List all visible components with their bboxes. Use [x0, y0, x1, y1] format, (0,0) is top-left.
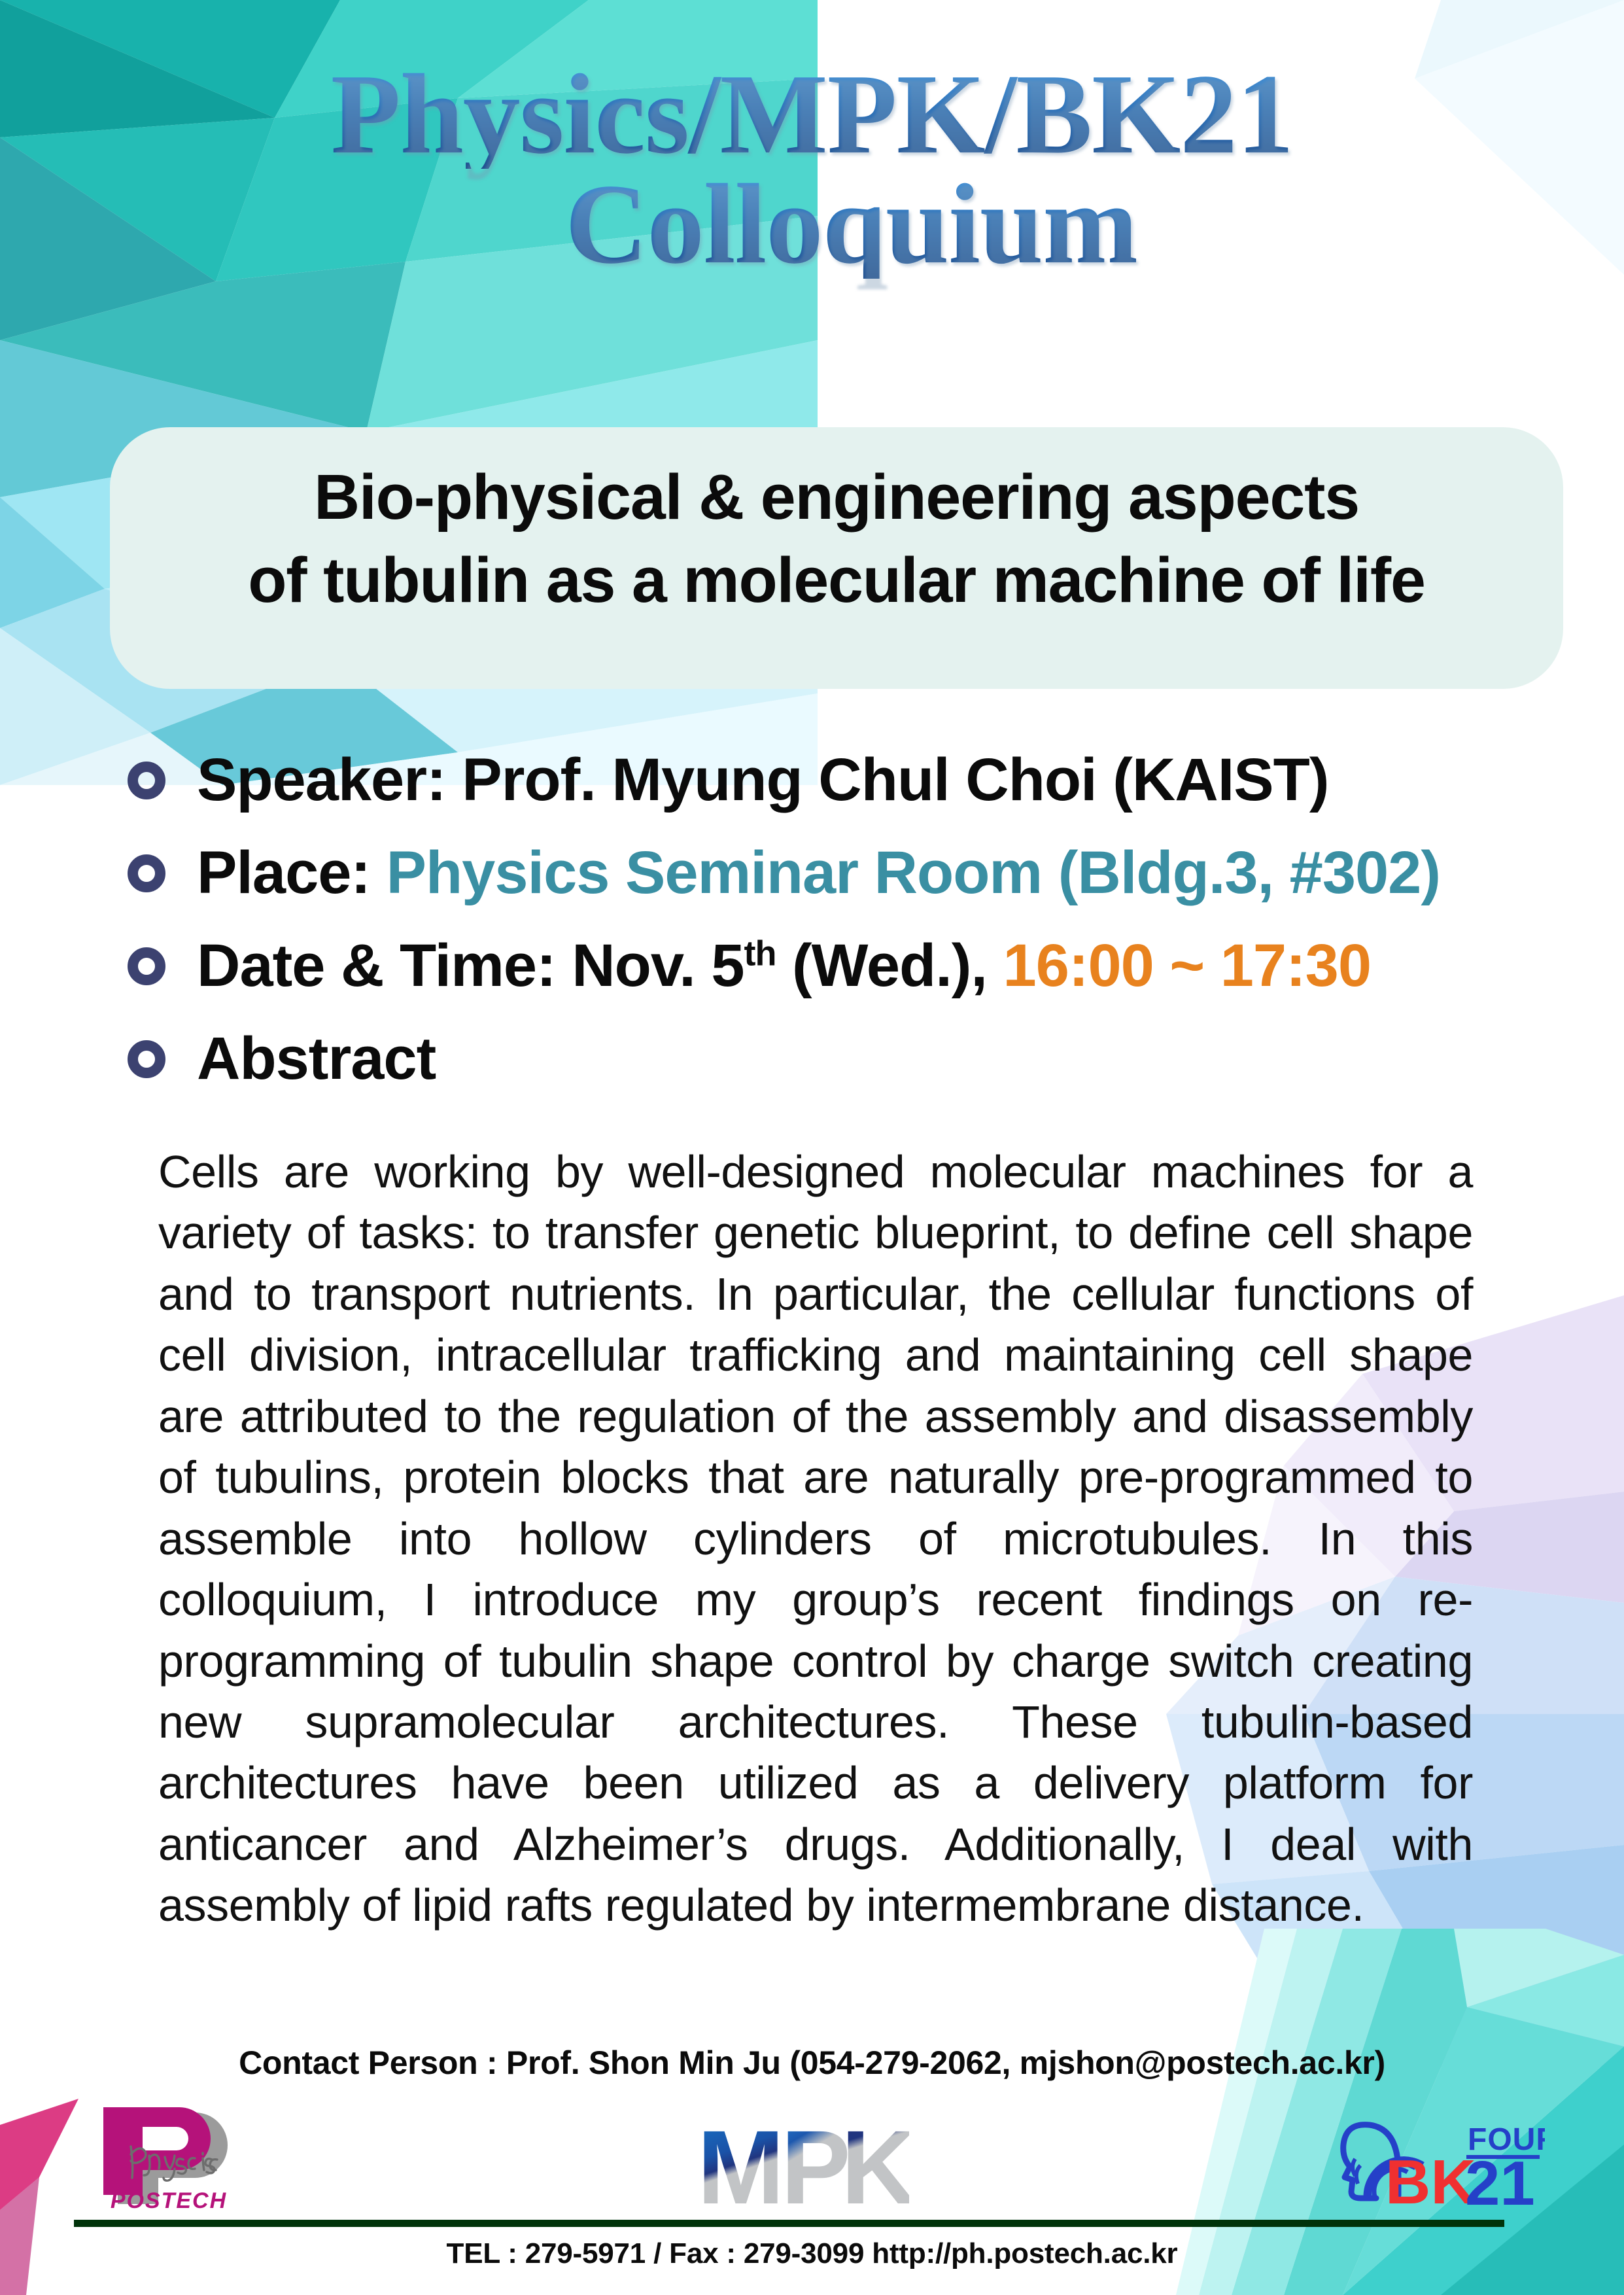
abstract-label: Abstract	[197, 1025, 436, 1094]
speaker-value: Prof. Myung Chul Choi (KAIST)	[462, 746, 1328, 813]
footer-divider	[74, 2220, 1504, 2227]
datetime-date-suffix: th	[744, 934, 776, 973]
place-value: Physics Seminar Room (Bldg.3, #302)	[387, 839, 1440, 906]
datetime-label: Date & Time:	[197, 932, 556, 999]
speaker-text: Speaker: Prof. Myung Chul Choi (KAIST)	[197, 746, 1329, 815]
talk-title-panel: Bio-physical & engineering aspects of tu…	[110, 427, 1563, 689]
svg-text:21: 21	[1465, 2148, 1535, 2210]
datetime-time-separator: ~	[1169, 932, 1204, 999]
detail-row-speaker: Speaker: Prof. Myung Chul Choi (KAIST)	[128, 746, 1566, 839]
abstract-body-text: Cells are working by well-designed molec…	[158, 1142, 1473, 1936]
talk-title-line-2: of tubulin as a molecular machine of lif…	[110, 548, 1563, 612]
talk-title-line-1: Bio-physical & engineering aspects	[110, 465, 1563, 529]
place-label: Place:	[197, 839, 370, 906]
datetime-time-end: 17:30	[1220, 932, 1371, 999]
poster-canvas: Physics/MPK/BK21 Colloquium Bio-physical…	[0, 0, 1624, 2295]
detail-row-abstract: Abstract	[128, 1025, 1566, 1117]
datetime-time-start: 16:00	[1003, 932, 1154, 999]
contact-person-line: Contact Person : Prof. Shon Min Ju (054-…	[0, 2044, 1624, 2082]
poster-header: Physics/MPK/BK21 Colloquium	[0, 59, 1624, 373]
mpk-logo: M P K	[693, 2112, 909, 2210]
header-line-1: Physics/MPK/BK21	[0, 59, 1624, 169]
svg-text:M: M	[697, 2112, 784, 2210]
event-details: Speaker: Prof. Myung Chul Choi (KAIST) P…	[128, 746, 1566, 1117]
footer-contact-text: TEL : 279-5971 / Fax : 279-3099 http://p…	[0, 2237, 1624, 2270]
bk21-four-logo: BK FOUR 21	[1329, 2099, 1545, 2210]
svg-text:K: K	[841, 2112, 909, 2210]
detail-row-datetime: Date & Time: Nov. 5th (Wed.), 16:00 ~ 17…	[128, 932, 1566, 1025]
ring-bullet-icon	[128, 1040, 165, 1078]
postech-physics-logo: POSTECH	[84, 2103, 254, 2215]
datetime-text: Date & Time: Nov. 5th (Wed.), 16:00 ~ 17…	[197, 932, 1371, 1001]
svg-text:BK: BK	[1385, 2147, 1476, 2210]
header-line-2: Colloquium	[78, 169, 1624, 279]
datetime-date: Nov. 5	[572, 932, 744, 999]
datetime-day: (Wed.),	[792, 932, 987, 999]
ring-bullet-icon	[128, 854, 165, 892]
svg-text:POSTECH: POSTECH	[111, 2188, 227, 2213]
svg-text:P: P	[781, 2112, 851, 2210]
detail-row-place: Place: Physics Seminar Room (Bldg.3, #30…	[128, 839, 1566, 932]
ring-bullet-icon	[128, 947, 165, 985]
speaker-label: Speaker:	[197, 746, 446, 813]
place-text: Place: Physics Seminar Room (Bldg.3, #30…	[197, 839, 1440, 908]
ring-bullet-icon	[128, 762, 165, 799]
